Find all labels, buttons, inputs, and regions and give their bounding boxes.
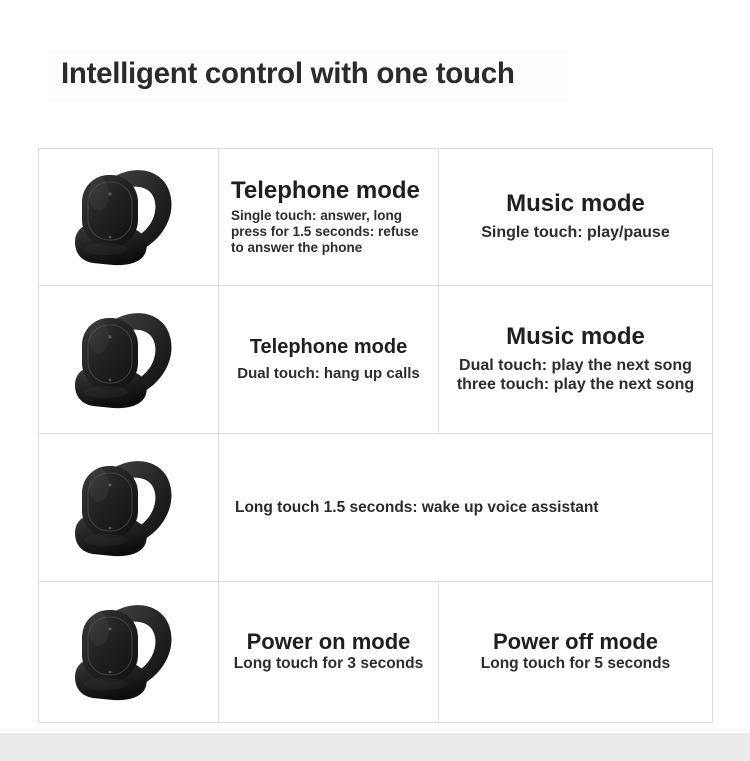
- open-ear-hook-earbud-icon: [51, 593, 207, 711]
- mode-title: Power on mode: [229, 630, 428, 655]
- power-on-mode-cell: Power on mode Long touch for 3 seconds: [219, 582, 439, 723]
- earbud-image-cell-4: [39, 582, 219, 723]
- page-title: Intelligent control with one touch: [61, 51, 515, 96]
- mode-title: Music mode: [449, 324, 702, 351]
- mode-title: Telephone mode: [229, 336, 428, 358]
- power-off-mode-cell: Power off mode Long touch for 5 seconds: [439, 582, 713, 723]
- mode-description: Long touch for 3 seconds: [229, 655, 428, 674]
- table-row: Telephone mode Single touch: answer, lon…: [39, 149, 713, 286]
- mode-title: Power off mode: [449, 630, 702, 655]
- earbud-image-cell-3: [39, 434, 219, 582]
- mode-description: Single touch: answer, long press for 1.5…: [231, 208, 428, 257]
- touch-control-table: Telephone mode Single touch: answer, lon…: [38, 148, 713, 723]
- mode-description: Dual touch: hang up calls: [229, 365, 428, 383]
- open-ear-hook-earbud-icon: [51, 301, 207, 419]
- table-row: Telephone mode Dual touch: hang up calls…: [39, 286, 713, 434]
- table-row: Power on mode Long touch for 3 seconds P…: [39, 582, 713, 723]
- mode-description: Single touch: play/pause: [449, 223, 702, 242]
- product-feature-page: Intelligent control with one touch: [0, 0, 750, 761]
- title-section: Intelligent control with one touch: [0, 44, 750, 106]
- table-row: Long touch 1.5 seconds: wake up voice as…: [39, 434, 713, 582]
- telephone-mode-cell-2: Telephone mode Dual touch: hang up calls: [219, 286, 439, 434]
- voice-assistant-cell: Long touch 1.5 seconds: wake up voice as…: [219, 434, 713, 582]
- open-ear-hook-earbud-icon: [51, 158, 207, 276]
- music-mode-cell-2: Music mode Dual touch: play the next son…: [439, 286, 713, 434]
- music-mode-cell-1: Music mode Single touch: play/pause: [439, 149, 713, 286]
- earbud-image-cell-2: [39, 286, 219, 434]
- bottom-band: [0, 733, 750, 761]
- earbud-image-cell-1: [39, 149, 219, 286]
- open-ear-hook-earbud-icon: [51, 449, 207, 567]
- mode-description: Long touch for 5 seconds: [449, 655, 702, 674]
- mode-title: Telephone mode: [231, 178, 428, 205]
- mode-title: Music mode: [449, 191, 702, 218]
- mode-description: Dual touch: play the next song three tou…: [449, 356, 702, 394]
- telephone-mode-cell-1: Telephone mode Single touch: answer, lon…: [219, 149, 439, 286]
- merged-row-text: Long touch 1.5 seconds: wake up voice as…: [219, 499, 712, 517]
